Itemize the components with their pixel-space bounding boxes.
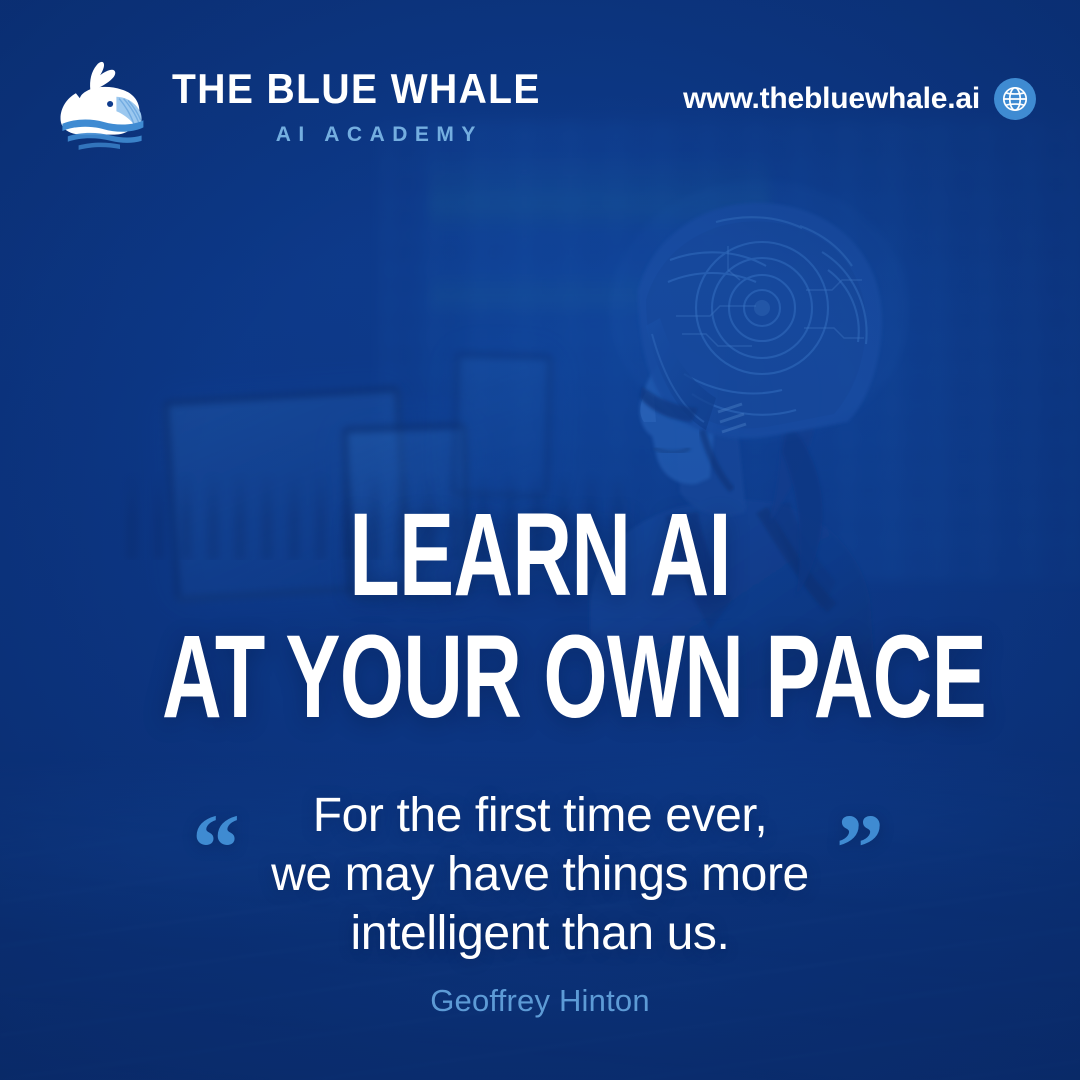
blue-whale-logo-icon: [48, 50, 156, 158]
quote-line-2: we may have things more: [0, 845, 1080, 904]
brand-text-block: THE BLUE WHALE AI ACADEMY: [172, 64, 569, 145]
quote-line-3: intelligent than us.: [0, 904, 1080, 963]
quote-attribution: Geoffrey Hinton: [0, 983, 1080, 1019]
quote-line-1: For the first time ever,: [0, 786, 1080, 845]
quote-close-mark: ”: [836, 800, 884, 896]
brand-name: THE BLUE WHALE: [172, 68, 541, 110]
headline-line-1: LEARN AI: [162, 498, 918, 614]
quote-block: “ ” For the first time ever, we may have…: [0, 786, 1080, 963]
brand-lockup[interactable]: THE BLUE WHALE AI ACADEMY: [48, 50, 569, 158]
headline-line-2: AT YOUR OWN PACE: [162, 620, 918, 736]
website-url-text: www.thebluewhale.ai: [683, 82, 980, 116]
page-title: LEARN AI AT YOUR OWN PACE: [0, 498, 1080, 735]
header-bar: THE BLUE WHALE AI ACADEMY www.thebluewha…: [48, 48, 1036, 160]
brand-tagline: AI ACADEMY: [172, 124, 569, 145]
globe-icon: [994, 78, 1036, 120]
quote-text: “ ” For the first time ever, we may have…: [0, 786, 1080, 963]
website-link[interactable]: www.thebluewhale.ai: [683, 78, 1036, 130]
quote-open-mark: “: [192, 800, 240, 896]
poster-content: THE BLUE WHALE AI ACADEMY www.thebluewha…: [0, 0, 1080, 1080]
poster-canvas: THE BLUE WHALE AI ACADEMY www.thebluewha…: [0, 0, 1080, 1080]
